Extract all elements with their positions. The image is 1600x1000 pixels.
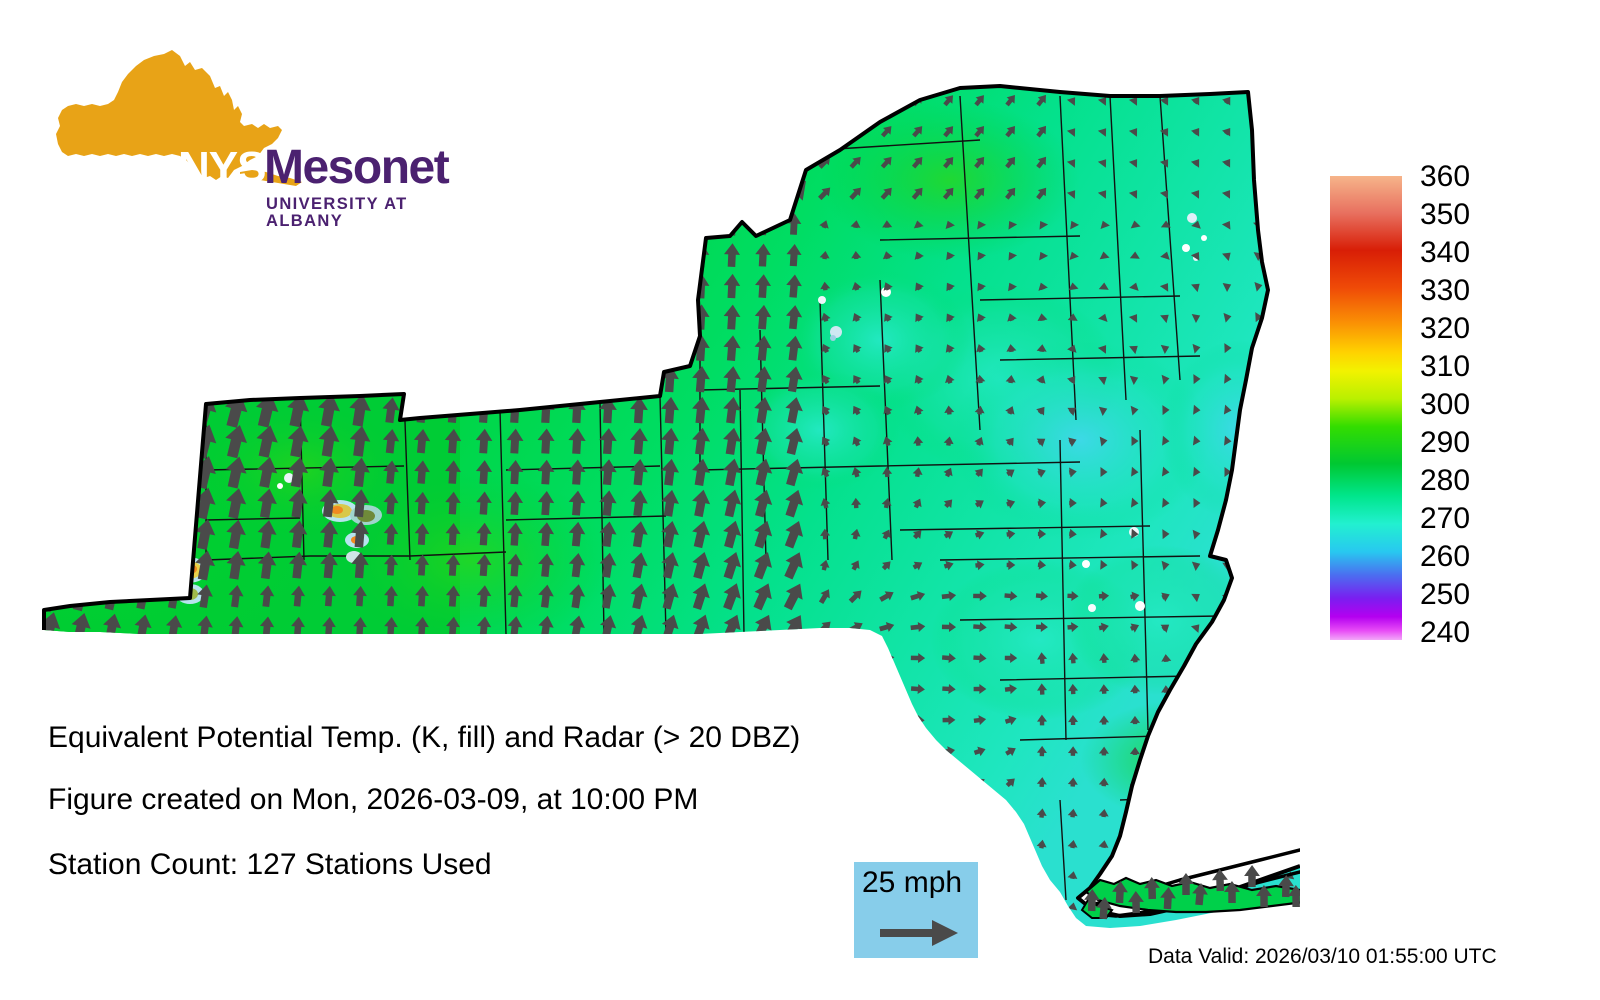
wind-arrow xyxy=(164,676,183,702)
wind-arrow xyxy=(817,682,834,695)
wind-arrow xyxy=(96,204,128,243)
wind-arrow xyxy=(596,862,619,887)
wind-arrow xyxy=(97,546,128,585)
wind-arrow xyxy=(752,896,773,916)
wind-arrow xyxy=(743,111,783,151)
wind-arrow xyxy=(565,862,588,887)
wind-arrow xyxy=(445,678,461,700)
wind-arrow xyxy=(251,204,284,244)
wind-arrow xyxy=(1254,778,1264,786)
wind-arrow xyxy=(596,894,619,918)
wind-arrow xyxy=(1222,621,1234,632)
wind-arrow xyxy=(880,684,894,694)
wind-arrow xyxy=(67,82,95,119)
wind-arrow xyxy=(1255,343,1263,354)
wind-arrow xyxy=(37,672,64,706)
wind-arrow xyxy=(196,677,214,701)
wind-arrow xyxy=(220,111,252,150)
wind-arrow xyxy=(749,673,778,704)
wind-arrow xyxy=(816,122,833,139)
wind-arrow xyxy=(536,303,557,332)
wind-arrow xyxy=(128,515,158,553)
wind-arrow xyxy=(100,643,123,673)
wind-arrow xyxy=(407,205,436,242)
wind-arrow xyxy=(1253,528,1264,540)
wind-arrow xyxy=(96,235,128,274)
wind-arrow xyxy=(287,892,309,920)
wind-arrow xyxy=(779,642,809,674)
wind-arrow xyxy=(158,266,191,306)
wind-arrow xyxy=(65,328,98,368)
colorbar-tick-250: 250 xyxy=(1420,580,1470,610)
wind-arrow xyxy=(132,644,153,672)
wind-arrow xyxy=(536,677,555,702)
wind-arrow xyxy=(750,800,776,826)
wind-arrow xyxy=(1192,840,1203,848)
wind-arrow xyxy=(783,864,805,886)
wind-arrow xyxy=(534,893,557,919)
wind-arrow xyxy=(384,648,399,669)
wind-arrow xyxy=(720,832,744,857)
wind-arrow xyxy=(377,237,406,274)
wind-arrow xyxy=(414,647,429,668)
wind-arrow xyxy=(973,837,987,850)
wind-arrow xyxy=(65,421,98,461)
wind-arrow xyxy=(445,647,461,669)
wind-arrow xyxy=(629,210,648,237)
wind-arrow xyxy=(1130,840,1141,849)
wind-arrow xyxy=(689,863,712,887)
wind-arrow xyxy=(1286,312,1294,322)
wind-arrow xyxy=(661,304,680,330)
theta-e-map-panel xyxy=(0,0,1300,960)
wind-arrow xyxy=(161,548,188,583)
wind-arrow xyxy=(194,892,215,921)
wind-arrow xyxy=(1285,840,1296,848)
wind-arrow xyxy=(504,862,527,888)
wind-arrow xyxy=(506,677,524,701)
wind-arrow xyxy=(133,675,154,703)
wind-arrow xyxy=(251,173,284,213)
wind-arrow xyxy=(1036,901,1047,910)
wind-arrow xyxy=(438,174,467,211)
wind-arrow xyxy=(942,775,956,788)
wind-arrow xyxy=(1005,901,1016,910)
wind-arrow xyxy=(1286,374,1294,385)
wind-arrow xyxy=(225,892,246,921)
wind-arrow xyxy=(688,643,714,674)
wind-arrow xyxy=(96,360,127,398)
wind-arrow xyxy=(628,894,651,918)
wind-arrow xyxy=(819,808,831,818)
wind-arrow xyxy=(1253,622,1265,632)
wind-arrow xyxy=(629,242,648,269)
wind-arrow xyxy=(132,891,153,921)
wind-arrow xyxy=(472,239,497,272)
wind-arrow xyxy=(1253,559,1265,571)
data-valid-timestamp: Data Valid: 2026/03/10 01:55:00 UTC xyxy=(1148,946,1497,967)
wind-arrow xyxy=(256,892,277,920)
wind-arrow xyxy=(127,143,158,182)
wind-arrow xyxy=(504,302,525,331)
wind-arrow xyxy=(819,899,832,912)
wind-arrow xyxy=(442,333,464,363)
colorbar-tick-320: 320 xyxy=(1420,314,1470,344)
wind-arrow xyxy=(96,421,129,461)
wind-arrow xyxy=(1005,838,1018,850)
wind-arrow xyxy=(718,642,746,673)
wind-arrow xyxy=(36,143,65,181)
wind-arrow xyxy=(437,80,469,119)
colorbar-tick-300: 300 xyxy=(1420,390,1470,420)
wind-arrow xyxy=(159,81,190,120)
wind-arrow xyxy=(251,80,283,119)
wind-arrow xyxy=(37,82,63,118)
wind-arrow xyxy=(973,806,987,820)
wind-arrow xyxy=(65,266,97,305)
wind-arrow xyxy=(35,205,66,244)
wind-arrow xyxy=(1255,467,1263,478)
wind-arrow xyxy=(1284,94,1297,106)
wind-arrow xyxy=(443,365,464,393)
colorbar-tick-340: 340 xyxy=(1420,238,1470,268)
wind-arrow xyxy=(158,173,190,212)
wind-arrow xyxy=(65,452,98,492)
wind-arrow xyxy=(1286,436,1294,447)
wind-arrow xyxy=(409,269,435,303)
wind-arrow xyxy=(661,242,679,268)
wind-arrow xyxy=(911,837,925,851)
wind-arrow xyxy=(283,267,313,305)
wind-arrow xyxy=(189,111,221,150)
wind-arrow xyxy=(567,334,587,362)
wind-arrow xyxy=(658,643,683,673)
wind-arrow xyxy=(849,715,863,725)
wind-arrow xyxy=(1254,654,1265,662)
wind-arrow xyxy=(628,86,649,114)
wind-arrow xyxy=(1285,747,1295,754)
wind-arrow xyxy=(189,266,222,306)
colorbar-tick-270: 270 xyxy=(1420,504,1470,534)
figure-title-line: Equivalent Potential Temp. (K, fill) and… xyxy=(48,723,800,753)
wind-arrow xyxy=(313,80,346,120)
theta-e-colorbar: 360 350 340 330 320 310 300 290 280 270 … xyxy=(1330,176,1580,646)
wind-arrow xyxy=(253,331,281,365)
wind-arrow xyxy=(535,862,558,888)
wind-arrow xyxy=(96,174,127,213)
wind-arrow xyxy=(220,266,252,305)
wind-arrow xyxy=(847,651,864,665)
wind-arrow xyxy=(345,236,375,274)
wind-arrow xyxy=(379,333,403,364)
wind-arrow xyxy=(1284,156,1297,168)
wind-arrow xyxy=(566,240,587,269)
wind-arrow xyxy=(627,863,650,888)
wind-arrow xyxy=(282,204,314,243)
wind-arrow xyxy=(655,178,685,207)
wind-arrow xyxy=(687,86,715,113)
wind-arrow xyxy=(1253,590,1265,601)
wind-arrow xyxy=(504,271,527,302)
wind-arrow xyxy=(159,484,189,521)
wind-arrow xyxy=(160,516,188,552)
wind-arrow xyxy=(692,212,709,237)
wind-arrow xyxy=(658,831,682,856)
wind-arrow xyxy=(34,328,67,368)
wind-arrow xyxy=(1223,716,1233,723)
wind-arrow xyxy=(189,204,222,244)
wind-arrow xyxy=(127,173,159,212)
wind-arrow xyxy=(438,143,469,182)
wind-arrow xyxy=(1129,871,1140,880)
wind-arrow xyxy=(597,179,618,208)
wind-arrow xyxy=(630,304,649,331)
wind-arrow xyxy=(505,365,525,392)
wind-arrow xyxy=(597,116,619,146)
wind-arrow xyxy=(627,644,650,673)
wind-arrow xyxy=(158,112,189,151)
wind-arrow xyxy=(290,678,305,700)
wind-arrow xyxy=(127,329,159,367)
wind-arrow xyxy=(1255,436,1262,446)
wind-arrow xyxy=(406,111,438,150)
wind-arrow xyxy=(222,330,251,365)
wind-arrow xyxy=(127,204,159,243)
wind-arrow xyxy=(469,144,498,181)
wind-arrow xyxy=(720,864,743,887)
wind-arrow xyxy=(376,205,407,243)
wind-arrow xyxy=(661,211,679,237)
wind-arrow xyxy=(474,365,494,393)
wind-arrow xyxy=(501,113,529,149)
wind-arrow xyxy=(36,113,64,150)
wind-arrow xyxy=(850,838,863,850)
wind-arrow xyxy=(1223,809,1234,817)
wind-arrow xyxy=(655,117,684,146)
wind-arrow xyxy=(781,768,808,795)
wind-arrow xyxy=(437,112,468,151)
wind-arrow xyxy=(566,831,589,857)
wind-arrow xyxy=(38,890,61,922)
wind-arrow xyxy=(879,92,895,108)
wind-arrow xyxy=(228,646,245,669)
wind-arrow xyxy=(503,208,528,241)
wind-arrow xyxy=(721,895,743,916)
wind-key-label: 25 mph xyxy=(862,866,962,899)
wind-arrow xyxy=(158,421,190,460)
wind-arrow xyxy=(158,453,189,492)
wind-arrow xyxy=(687,179,715,207)
wind-arrow xyxy=(223,362,250,395)
wind-arrow xyxy=(282,235,314,274)
wind-arrow xyxy=(97,143,128,182)
wind-arrow xyxy=(627,831,651,857)
wind-arrow xyxy=(470,175,498,211)
wind-arrow xyxy=(34,452,67,492)
wind-arrow xyxy=(411,365,432,394)
wind-arrow xyxy=(158,235,191,275)
wind-arrow xyxy=(344,80,377,120)
wind-arrow xyxy=(567,676,588,702)
wind-arrow-icon xyxy=(880,918,960,948)
wind-arrow xyxy=(321,648,336,669)
wind-arrow xyxy=(784,896,805,916)
colorbar-tick-330: 330 xyxy=(1420,276,1470,306)
wind-arrow xyxy=(441,301,464,332)
wind-arrow xyxy=(1192,716,1202,723)
wind-arrow xyxy=(1255,374,1263,385)
wind-arrow xyxy=(282,173,315,213)
wind-arrow xyxy=(317,364,341,395)
wind-arrow xyxy=(1285,654,1296,662)
wind-arrow xyxy=(880,746,893,757)
wind-arrow xyxy=(536,365,555,392)
wind-arrow xyxy=(564,84,589,117)
wind-arrow xyxy=(349,892,371,920)
wind-arrow xyxy=(96,266,129,306)
wind-arrow xyxy=(1005,870,1017,881)
wind-arrow xyxy=(220,235,253,275)
wind-arrow xyxy=(473,334,494,363)
wind-arrow xyxy=(344,204,376,243)
wind-arrow xyxy=(687,148,715,175)
wind-arrow xyxy=(661,273,679,299)
colorbar-tick-260: 260 xyxy=(1420,542,1470,572)
wind-arrow xyxy=(127,266,160,306)
wind-arrow xyxy=(259,647,275,669)
wind-arrow xyxy=(712,111,753,151)
wind-arrow xyxy=(848,683,863,694)
wind-arrow xyxy=(598,210,619,238)
wind-arrow xyxy=(346,268,374,304)
wind-arrow xyxy=(34,297,66,336)
wind-arrow xyxy=(849,746,863,757)
wind-arrow xyxy=(96,390,129,430)
wind-arrow xyxy=(159,361,188,396)
wind-arrow xyxy=(1254,685,1264,693)
wind-arrow xyxy=(712,80,753,120)
wind-arrow xyxy=(718,674,746,705)
wind-arrow xyxy=(127,297,160,336)
wind-arrow xyxy=(472,893,495,920)
wind-arrow xyxy=(36,641,63,675)
wind-arrow xyxy=(1254,497,1264,509)
wind-arrow xyxy=(441,270,466,303)
wind-arrow xyxy=(817,92,834,109)
station-count-line: Station Count: 127 Stations Used xyxy=(48,850,492,880)
wind-arrow xyxy=(880,807,893,819)
wind-arrow xyxy=(774,111,814,151)
wind-arrow xyxy=(655,148,684,177)
wind-arrow xyxy=(65,514,97,553)
wind-arrow xyxy=(97,112,127,150)
wind-arrow xyxy=(70,891,92,922)
wind-arrow xyxy=(158,204,191,244)
wind-arrow xyxy=(567,365,586,392)
wind-arrow xyxy=(629,335,648,362)
wind-arrow xyxy=(629,365,648,392)
wind-arrow xyxy=(414,678,430,699)
wind-arrow xyxy=(1223,685,1233,693)
wind-arrow xyxy=(127,390,160,429)
wind-arrow xyxy=(128,361,158,398)
wind-arrow xyxy=(1161,747,1171,754)
wind-arrow xyxy=(1192,809,1203,817)
wind-arrow xyxy=(441,892,464,919)
wind-arrow xyxy=(1161,716,1171,723)
wind-arrow xyxy=(659,895,682,918)
wind-arrow xyxy=(503,893,526,919)
wind-arrow xyxy=(816,650,834,666)
wind-arrow xyxy=(315,300,342,335)
wind-arrow xyxy=(565,893,588,918)
wind-arrow xyxy=(566,178,589,209)
wind-arrow xyxy=(567,645,587,671)
wind-arrow xyxy=(1192,685,1202,693)
wind-arrow xyxy=(349,364,372,394)
wind-arrow xyxy=(221,298,251,335)
wind-arrow xyxy=(259,678,275,700)
wind-arrow xyxy=(347,300,373,334)
wind-arrow xyxy=(536,334,556,362)
wind-arrow xyxy=(596,85,619,115)
wind-arrow xyxy=(1223,747,1233,754)
wind-arrow xyxy=(33,390,66,430)
wind-arrow xyxy=(65,483,97,522)
wind-arrow xyxy=(503,239,527,271)
wind-arrow xyxy=(1285,778,1295,786)
wind-arrow xyxy=(69,673,93,705)
wind-arrow xyxy=(406,80,438,119)
wind-arrow xyxy=(251,235,283,274)
wind-arrow xyxy=(406,143,437,182)
colorbar-gradient xyxy=(1330,176,1402,640)
wind-arrow xyxy=(64,390,97,430)
wind-arrow xyxy=(1285,218,1296,230)
wind-arrow xyxy=(190,330,220,366)
wind-arrow xyxy=(34,266,66,305)
wind-arrow xyxy=(353,648,368,669)
wind-arrow xyxy=(254,363,280,395)
wind-arrow xyxy=(159,329,190,366)
wind-arrow xyxy=(1161,809,1172,817)
wind-arrow xyxy=(313,173,345,212)
wind-arrow xyxy=(911,776,925,788)
wind-arrow xyxy=(220,142,253,182)
wind-arrow xyxy=(505,334,526,362)
wind-arrow xyxy=(251,267,282,305)
wind-arrow xyxy=(313,111,346,151)
wind-arrow xyxy=(535,240,557,270)
wind-arrow xyxy=(1284,559,1296,570)
colorbar-tick-360: 360 xyxy=(1420,162,1470,192)
wind-arrow xyxy=(818,746,832,756)
wind-arrow xyxy=(535,271,557,301)
wind-arrow xyxy=(318,892,340,920)
wind-arrow xyxy=(66,174,97,213)
wind-arrow xyxy=(290,647,305,668)
wind-arrow xyxy=(689,831,713,856)
wind-arrow xyxy=(1130,809,1141,818)
wind-arrow xyxy=(189,173,222,213)
wind-arrow xyxy=(1284,528,1296,540)
wind-arrow xyxy=(565,115,589,147)
wind-arrow xyxy=(712,173,753,213)
wind-arrow xyxy=(1253,125,1266,137)
wind-arrow xyxy=(220,80,252,119)
wind-arrow xyxy=(191,362,219,396)
wind-arrow xyxy=(158,390,190,429)
